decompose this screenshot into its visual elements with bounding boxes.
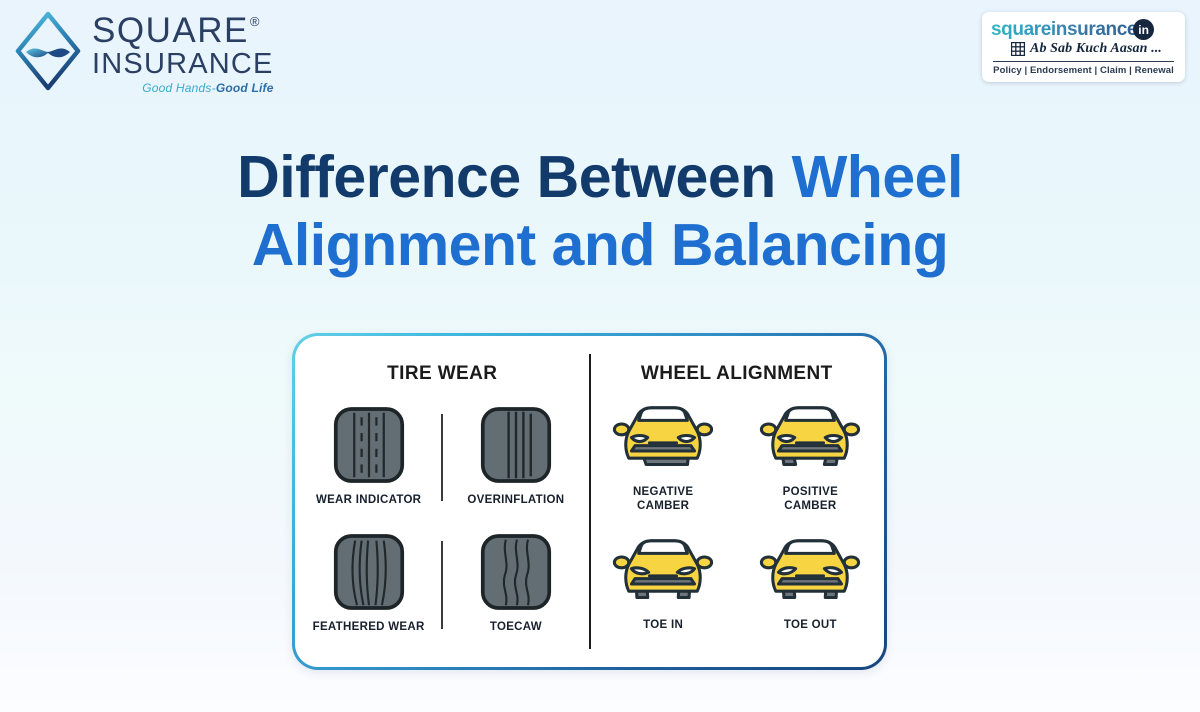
- tire-item-label: TOECAW: [490, 620, 542, 634]
- squareinsurance-badge[interactable]: squareinsurance in Ab Sab Kuch Aasan ...…: [982, 12, 1185, 82]
- infographic-card: TIRE WEAR WEAR INDICATOR: [292, 333, 887, 670]
- tire-item-wear-indicator[interactable]: WEAR INDICATOR: [295, 406, 442, 507]
- brand-name-line2: INSURANCE: [92, 50, 274, 79]
- square-diamond-hands-logo: [12, 8, 84, 94]
- badge-tagline-row: Ab Sab Kuch Aasan ...: [991, 41, 1176, 57]
- badge-divider: [993, 61, 1174, 62]
- tire-wear-heading: TIRE WEAR: [295, 363, 590, 385]
- alignment-item-positive-camber[interactable]: POSITIVECAMBER: [737, 397, 884, 514]
- registered-trademark-icon: ®: [250, 15, 260, 28]
- label-line-2: CAMBER: [637, 500, 689, 512]
- alignment-row-1: NEGATIVECAMBER: [590, 397, 885, 514]
- alignment-item-label: TOE OUT: [784, 618, 837, 632]
- car-toe-in-icon: [609, 530, 717, 611]
- label-line-2: CAMBER: [784, 500, 836, 512]
- car-toe-out-icon: [756, 530, 864, 611]
- tire-item-toecaw[interactable]: TOECAW: [442, 533, 589, 634]
- title-part-dark: Difference Between: [237, 144, 791, 210]
- brand-wordmark: SQUARE ® INSURANCE Good Hands-Good Life: [92, 9, 274, 94]
- badge-hindi-tagline: Ab Sab Kuch Aasan ...: [1030, 41, 1162, 57]
- tire-toecaw-icon: [480, 533, 552, 611]
- tire-item-label: OVERINFLATION: [467, 493, 564, 507]
- tire-row-1: WEAR INDICATOR OVERINFLATION: [295, 406, 590, 507]
- alignment-item-label: POSITIVECAMBER: [783, 485, 838, 514]
- wheel-alignment-section: WHEEL ALIGNMENT: [590, 336, 885, 667]
- tire-column-divider-2: [441, 541, 443, 628]
- label-line-1: POSITIVE: [783, 486, 838, 498]
- title-part-blue-2: Alignment and Balancing: [252, 212, 949, 278]
- domain-in-icon: in: [1133, 19, 1154, 40]
- tire-overinflation-icon: [480, 406, 552, 484]
- tire-item-feathered-wear[interactable]: FEATHERED WEAR: [295, 533, 442, 634]
- alignment-item-label: TOE IN: [643, 618, 683, 632]
- tire-item-label: WEAR INDICATOR: [316, 493, 421, 507]
- label-line-1: NEGATIVE: [633, 486, 693, 498]
- tire-column-divider-1: [441, 414, 443, 501]
- car-positive-camber-icon: [756, 397, 864, 478]
- tire-item-label: FEATHERED WEAR: [313, 620, 425, 634]
- alignment-item-toe-out[interactable]: TOE OUT: [737, 530, 884, 632]
- tire-row-2: FEATHERED WEAR TOECAW: [295, 533, 590, 634]
- car-negative-camber-icon: [609, 397, 717, 478]
- tire-feathered-wear-icon: [333, 533, 405, 611]
- grid-icon: [1011, 42, 1025, 56]
- wheel-alignment-heading: WHEEL ALIGNMENT: [590, 363, 885, 385]
- badge-wordmark-row: squareinsurance in: [991, 19, 1176, 40]
- badge-links: Policy | Endorsement | Claim | Renewal: [991, 65, 1176, 76]
- tire-item-overinflation[interactable]: OVERINFLATION: [442, 406, 589, 507]
- alignment-row-2: TOE IN: [590, 530, 885, 632]
- tagline-prefix: Good Hands-: [142, 81, 216, 95]
- tire-wear-indicator-icon: [333, 406, 405, 484]
- alignment-item-label: NEGATIVECAMBER: [633, 485, 693, 514]
- brand-name-line1: SQUARE: [92, 13, 249, 48]
- brand-logo: SQUARE ® INSURANCE Good Hands-Good Life: [12, 8, 274, 94]
- alignment-item-toe-in[interactable]: TOE IN: [590, 530, 737, 632]
- tire-wear-section: TIRE WEAR WEAR INDICATOR: [295, 336, 590, 667]
- brand-tagline: Good Hands-Good Life: [92, 82, 274, 94]
- title-part-blue-1: Wheel: [792, 144, 963, 210]
- alignment-item-negative-camber[interactable]: NEGATIVECAMBER: [590, 397, 737, 514]
- tagline-suffix: Good Life: [216, 81, 274, 95]
- page-title: Difference Between Wheel Alignment and B…: [0, 143, 1200, 280]
- badge-wordmark: squareinsurance: [991, 20, 1137, 39]
